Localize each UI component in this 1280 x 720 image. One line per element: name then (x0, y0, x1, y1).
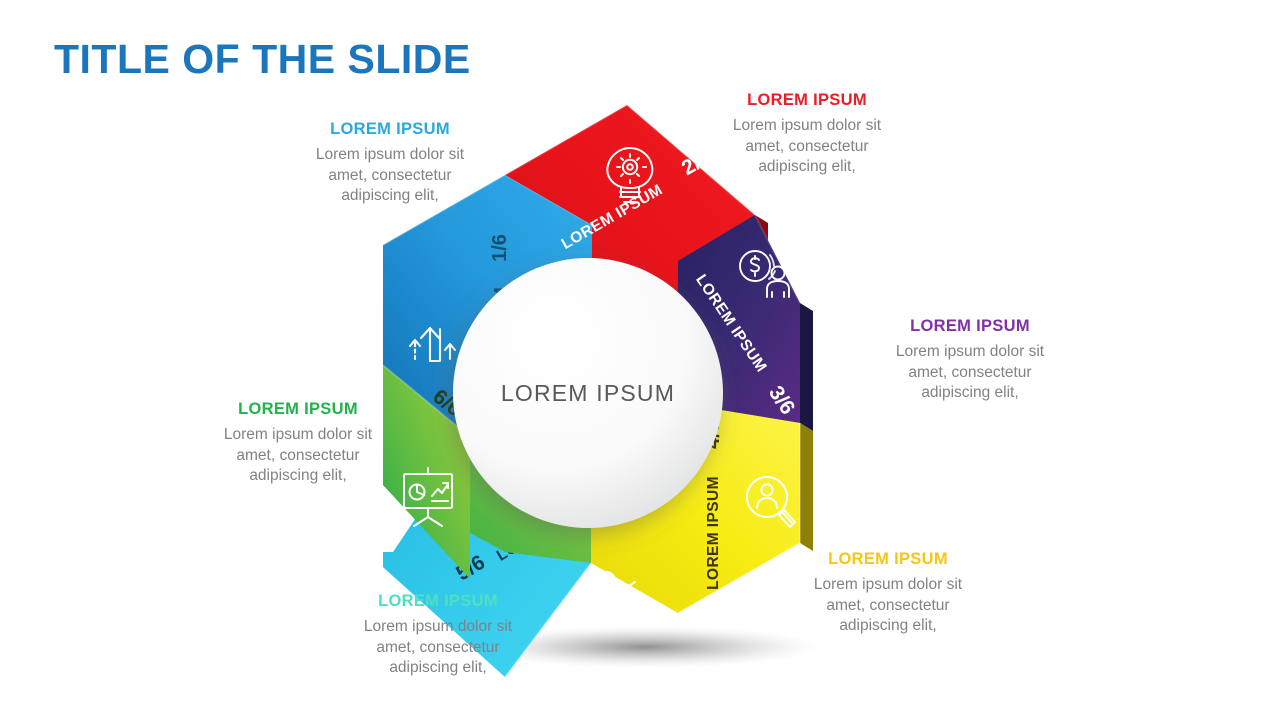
segment-4-label: LOREM IPSUM (705, 476, 722, 590)
callout-1-body: Lorem ipsum dolor sit amet, consectetur … (297, 145, 483, 207)
segment-4-side (800, 423, 813, 551)
callout-4: LOREM IPSUM Lorem ipsum dolor sit amet, … (795, 550, 981, 637)
callout-6: LOREM IPSUM Lorem ipsum dolor sit amet, … (205, 400, 391, 487)
callout-3-body: Lorem ipsum dolor sit amet, consectetur … (877, 342, 1063, 404)
callout-5-body: Lorem ipsum dolor sit amet, consectetur … (345, 617, 531, 679)
page-title: TITLE OF THE SLIDE (54, 36, 471, 83)
callout-5: LOREM IPSUM Lorem ipsum dolor sit amet, … (345, 592, 531, 679)
callout-6-body: Lorem ipsum dolor sit amet, consectetur … (205, 425, 391, 487)
segment-1-number: 1/6 (489, 234, 511, 262)
callout-4-body: Lorem ipsum dolor sit amet, consectetur … (795, 575, 981, 637)
center-circle-label: LOREM IPSUM (501, 380, 675, 406)
callout-1-title: LOREM IPSUM (297, 120, 483, 138)
callout-1: LOREM IPSUM Lorem ipsum dolor sit amet, … (297, 120, 483, 207)
callout-3-title: LOREM IPSUM (877, 317, 1063, 335)
center-circle[interactable]: LOREM IPSUM (453, 258, 723, 528)
callout-3: LOREM IPSUM Lorem ipsum dolor sit amet, … (877, 317, 1063, 404)
callout-2: LOREM IPSUM Lorem ipsum dolor sit amet, … (714, 91, 900, 178)
callout-4-title: LOREM IPSUM (795, 550, 981, 568)
callout-6-title: LOREM IPSUM (205, 400, 391, 418)
callout-2-body: Lorem ipsum dolor sit amet, consectetur … (714, 116, 900, 178)
callout-5-title: LOREM IPSUM (345, 592, 531, 610)
segment-3-side (800, 303, 813, 431)
callout-2-title: LOREM IPSUM (714, 91, 900, 109)
